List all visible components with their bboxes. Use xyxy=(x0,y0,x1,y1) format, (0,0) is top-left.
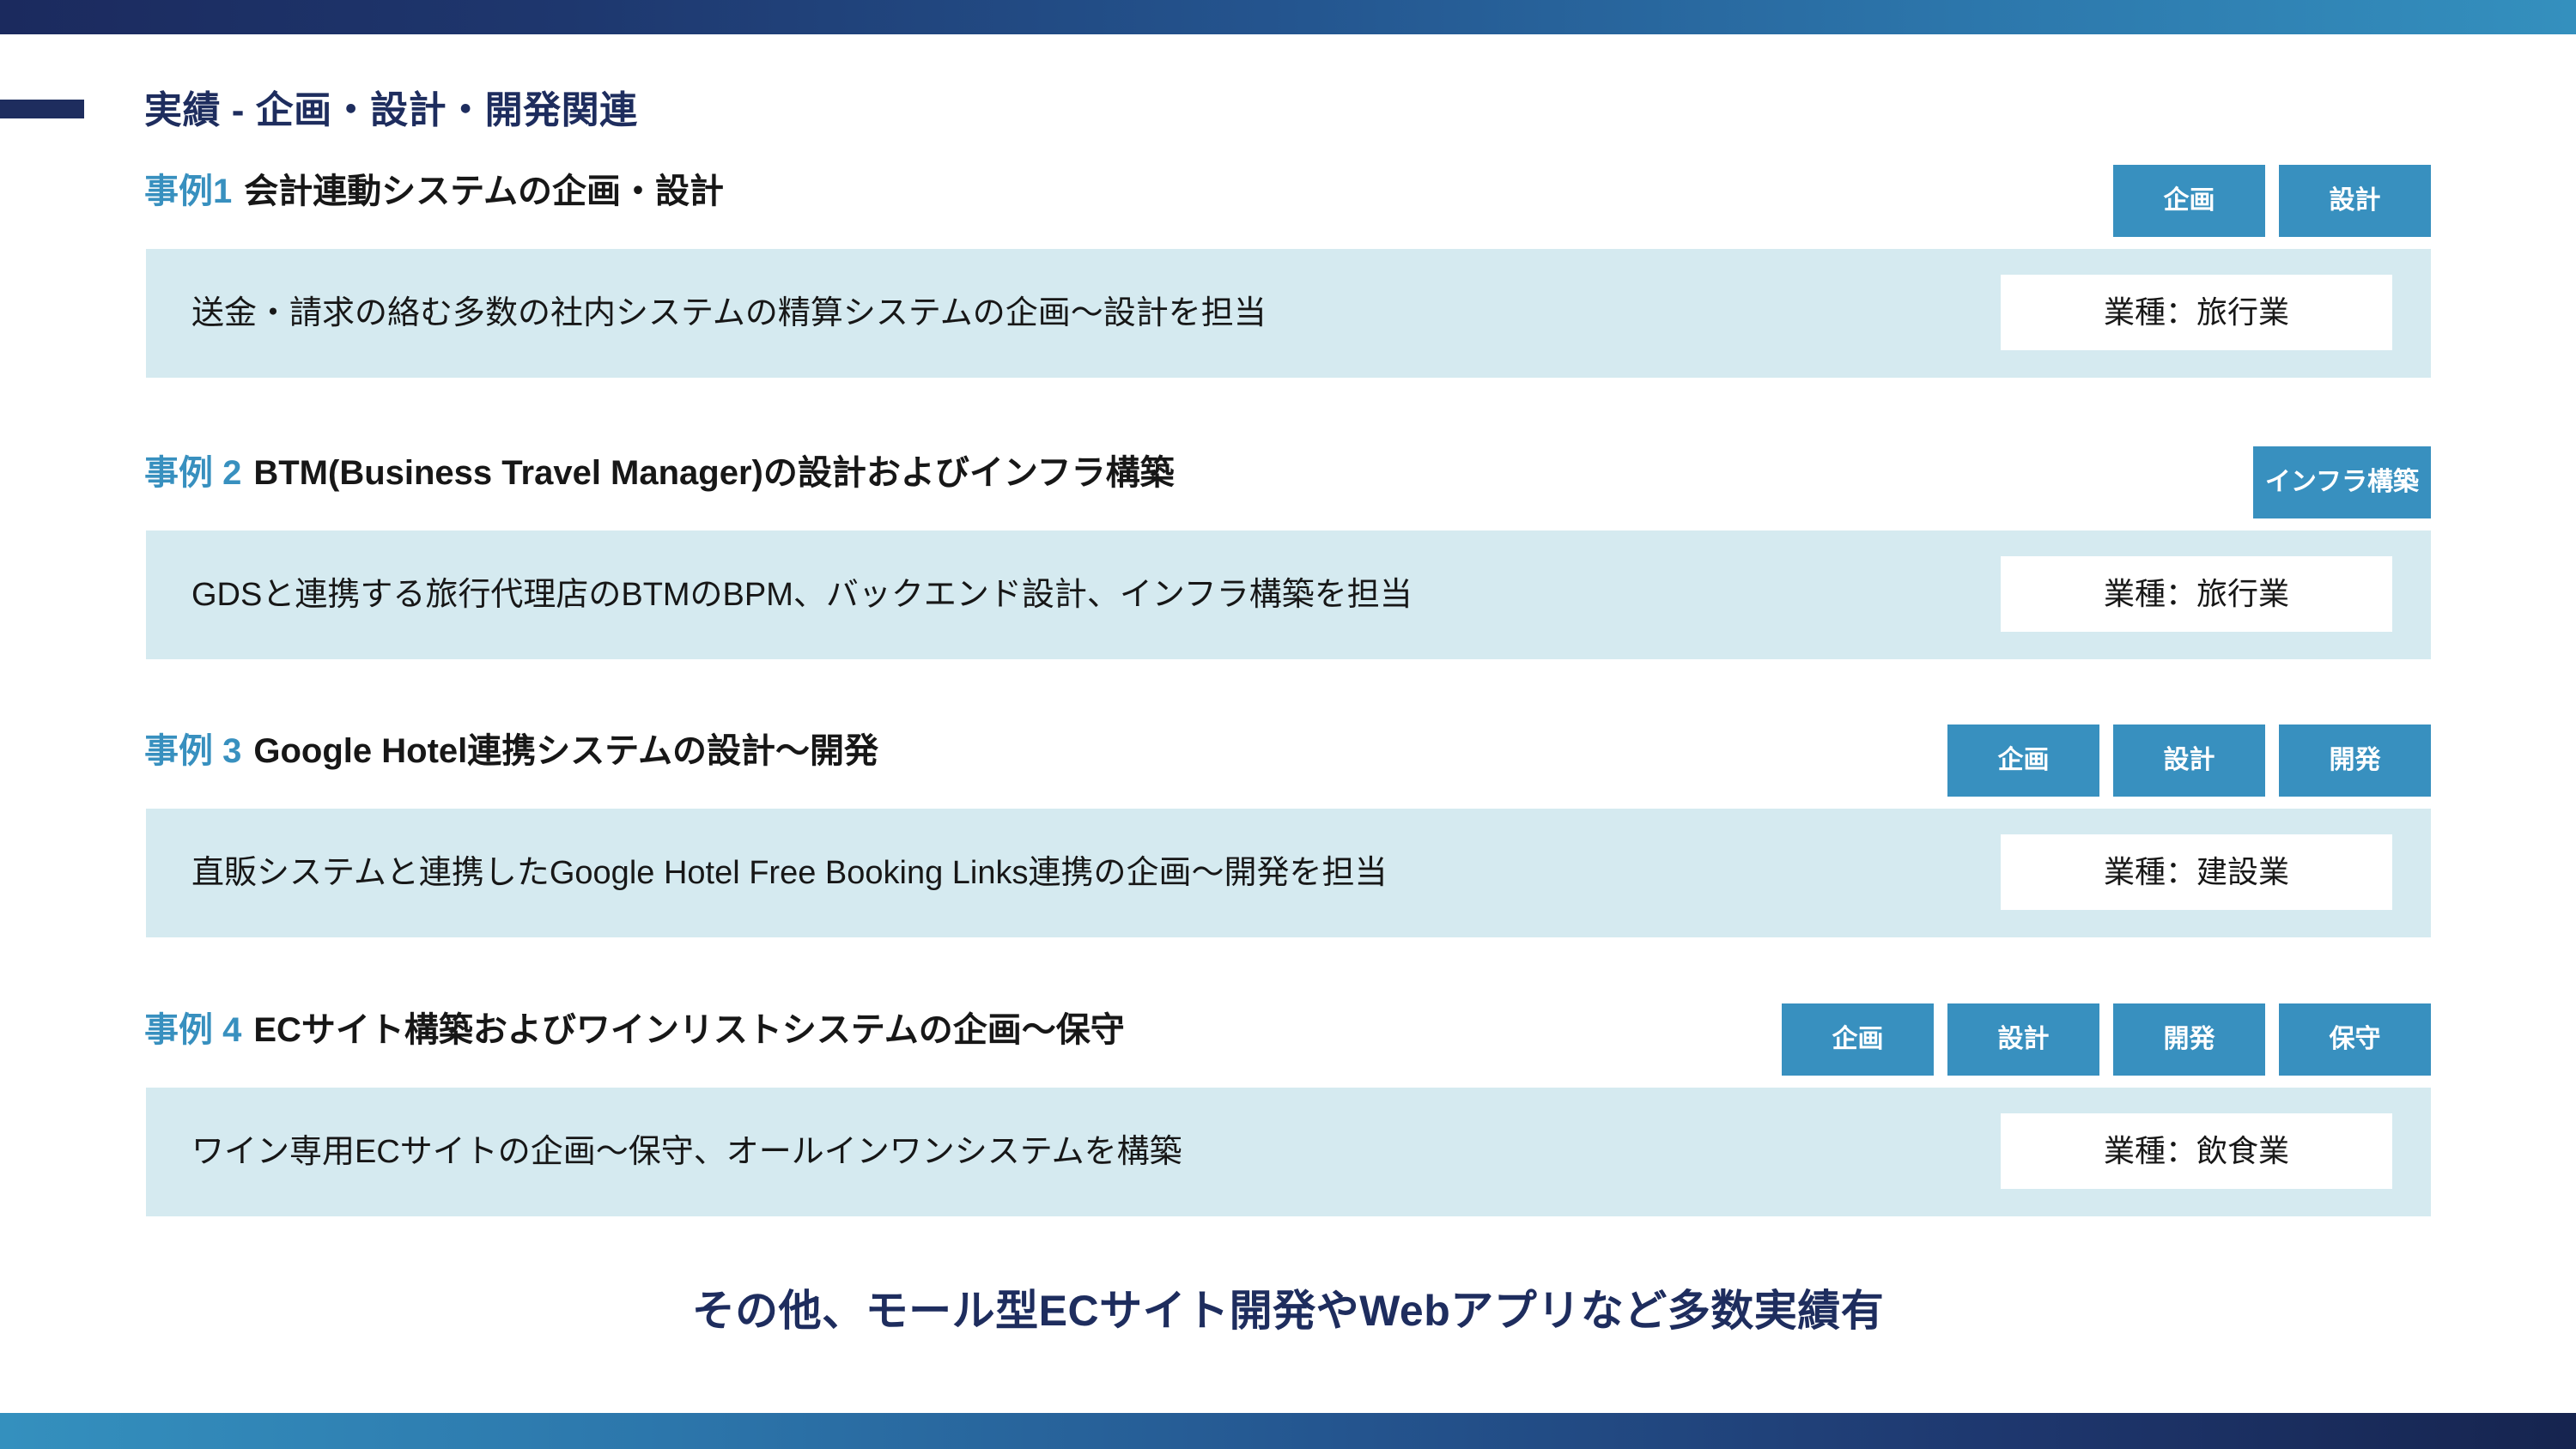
case-label: 事例 4 xyxy=(144,1011,241,1049)
case-tag-row: 企画 設計 開発 xyxy=(1947,724,2431,797)
industry-badge: 業種：旅行業 xyxy=(2001,556,2392,632)
case-tag[interactable]: 企画 xyxy=(2113,165,2265,237)
case-tag[interactable]: 設計 xyxy=(2113,724,2265,797)
case-description-band: 直販システムと連携したGoogle Hotel Free Booking Lin… xyxy=(146,809,2431,937)
industry-badge: 業種：旅行業 xyxy=(2001,275,2392,350)
case-title: BTM(Business Travel Manager)の設計およびインフラ構築 xyxy=(253,454,1174,492)
case-block-2: 事例 2BTM(Business Travel Manager)の設計およびイン… xyxy=(0,436,2576,676)
case-block-3: 事例 3Google Hotel連携システムの設計〜開発 企画 設計 開発 直販… xyxy=(0,714,2576,955)
industry-badge: 業種：飲食業 xyxy=(2001,1113,2392,1189)
case-label: 事例1 xyxy=(144,173,232,210)
case-tag[interactable]: 保守 xyxy=(2279,1003,2431,1076)
footer-note: その他、モール型ECサイト開発やWebアプリなど多数実績有 xyxy=(0,1276,2576,1338)
case-tag[interactable]: 開発 xyxy=(2113,1003,2265,1076)
case-title-row: 事例1会計連動システムの企画・設計 xyxy=(144,155,724,228)
case-title: Google Hotel連携システムの設計〜開発 xyxy=(253,732,878,770)
case-tag[interactable]: 企画 xyxy=(1782,1003,1934,1076)
case-tag[interactable]: 設計 xyxy=(1947,1003,2099,1076)
case-description: 送金・請求の絡む多数の社内システムの精算システムの企画〜設計を担当 xyxy=(191,249,1267,378)
case-label: 事例 2 xyxy=(144,454,241,492)
case-description: GDSと連携する旅行代理店のBTMのBPM、バックエンド設計、インフラ構築を担当 xyxy=(191,530,1413,659)
case-tag[interactable]: インフラ構築 xyxy=(2253,446,2431,518)
page-title: 実績 - 企画・設計・開発関連 xyxy=(144,84,638,137)
case-tag[interactable]: 開発 xyxy=(2279,724,2431,797)
case-tag[interactable]: 企画 xyxy=(1947,724,2099,797)
industry-badge: 業種：建設業 xyxy=(2001,834,2392,910)
bottom-gradient-bar xyxy=(0,1413,2576,1449)
case-tag-row: インフラ構築 xyxy=(2253,446,2431,518)
case-label: 事例 3 xyxy=(144,732,241,770)
case-tag-row: 企画 設計 xyxy=(2113,165,2431,237)
case-description: ワイン専用ECサイトの企画〜保守、オールインワンシステムを構築 xyxy=(191,1088,1182,1216)
case-tag[interactable]: 設計 xyxy=(2279,165,2431,237)
top-gradient-bar xyxy=(0,0,2576,34)
case-title: 会計連動システムの企画・設計 xyxy=(244,173,724,210)
heading-marker-icon xyxy=(0,100,84,118)
case-description-band: ワイン専用ECサイトの企画〜保守、オールインワンシステムを構築 業種：飲食業 xyxy=(146,1088,2431,1216)
case-title-row: 事例 4ECサイト構築およびワインリストシステムの企画〜保守 xyxy=(144,993,1125,1067)
case-title-row: 事例 2BTM(Business Travel Manager)の設計およびイン… xyxy=(144,436,1175,510)
case-tag-row: 企画 設計 開発 保守 xyxy=(1782,1003,2431,1076)
case-block-4: 事例 4ECサイト構築およびワインリストシステムの企画〜保守 企画 設計 開発 … xyxy=(0,993,2576,1234)
page-heading: 実績 - 企画・設計・開発関連 xyxy=(0,84,2576,144)
case-title: ECサイト構築およびワインリストシステムの企画〜保守 xyxy=(253,1011,1124,1049)
case-block-1: 事例1会計連動システムの企画・設計 企画 設計 送金・請求の絡む多数の社内システ… xyxy=(0,155,2576,395)
case-description: 直販システムと連携したGoogle Hotel Free Booking Lin… xyxy=(191,809,1388,937)
case-description-band: GDSと連携する旅行代理店のBTMのBPM、バックエンド設計、インフラ構築を担当… xyxy=(146,530,2431,659)
case-description-band: 送金・請求の絡む多数の社内システムの精算システムの企画〜設計を担当 業種：旅行業 xyxy=(146,249,2431,378)
case-title-row: 事例 3Google Hotel連携システムの設計〜開発 xyxy=(144,714,878,788)
